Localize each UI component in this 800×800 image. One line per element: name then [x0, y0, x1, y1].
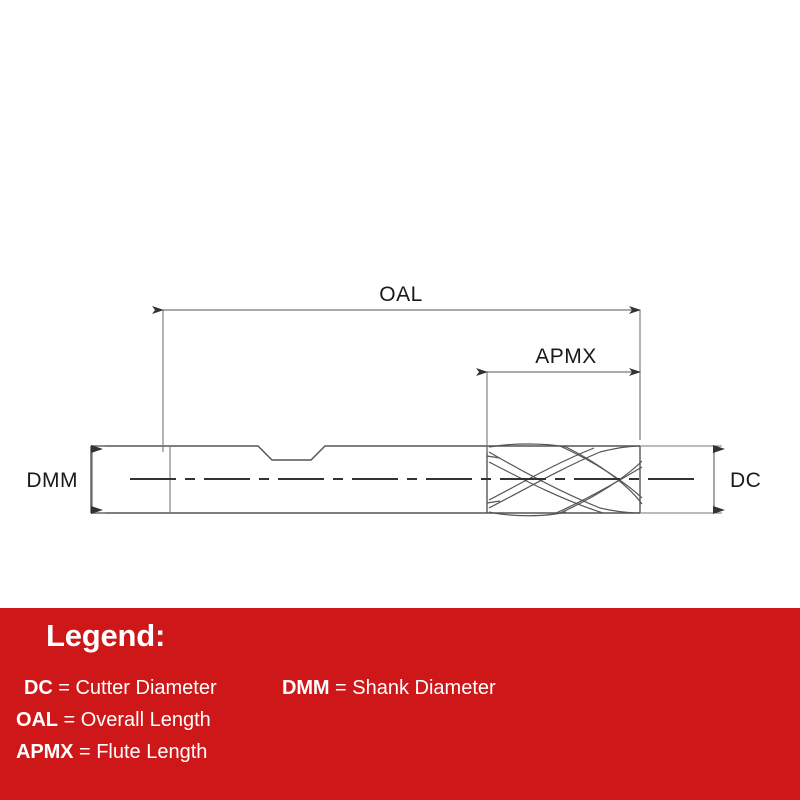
shank-top-edge [91, 446, 487, 460]
flute-edge-6 [489, 448, 594, 500]
legend-item-dc: DC = Cutter Diameter [24, 672, 282, 704]
legend-equals: = [53, 677, 76, 699]
page-root: OAL APMX DMM DC [0, 0, 800, 800]
legend-entry-list: DC = Cutter DiameterDMM = Shank Diameter… [16, 672, 800, 768]
end-mill-drawing-svg: OAL APMX DMM DC [0, 0, 800, 608]
legend-term-dc: DC [24, 677, 53, 699]
legend-row: OAL = Overall Length [16, 704, 800, 736]
flute-crest-top-2 [600, 446, 640, 452]
flute-crest-bot-2 [600, 508, 640, 513]
legend-item-oal: OAL = Overall Length [16, 704, 211, 736]
dimension-apmx: APMX [487, 345, 640, 452]
apmx-label: APMX [535, 345, 597, 368]
legend-definition-apmx: Flute Length [96, 741, 207, 763]
technical-drawing: OAL APMX DMM DC [0, 0, 800, 608]
legend-title: Legend: [46, 617, 165, 654]
legend-term-oal: OAL [16, 709, 58, 731]
legend-definition-oal: Overall Length [81, 709, 211, 731]
legend-term-apmx: APMX [16, 741, 73, 763]
dimension-dmm: DMM [26, 446, 105, 513]
dmm-label: DMM [26, 469, 78, 492]
dc-label: DC [730, 469, 761, 492]
legend-panel: Legend: DC = Cutter DiameterDMM = Shank … [0, 608, 800, 800]
legend-item-dmm: DMM = Shank Diameter [282, 672, 496, 704]
legend-equals: = [73, 741, 96, 763]
legend-row: DC = Cutter DiameterDMM = Shank Diameter [16, 672, 800, 704]
oal-label: OAL [379, 283, 423, 306]
legend-definition-dmm: Shank Diameter [352, 677, 495, 699]
legend-definition-dc: Cutter Diameter [75, 677, 216, 699]
legend-row: APMX = Flute Length [16, 736, 800, 768]
legend-item-apmx: APMX = Flute Length [16, 736, 207, 768]
legend-equals: = [58, 709, 81, 731]
legend-equals: = [329, 677, 352, 699]
legend-term-dmm: DMM [282, 677, 329, 699]
